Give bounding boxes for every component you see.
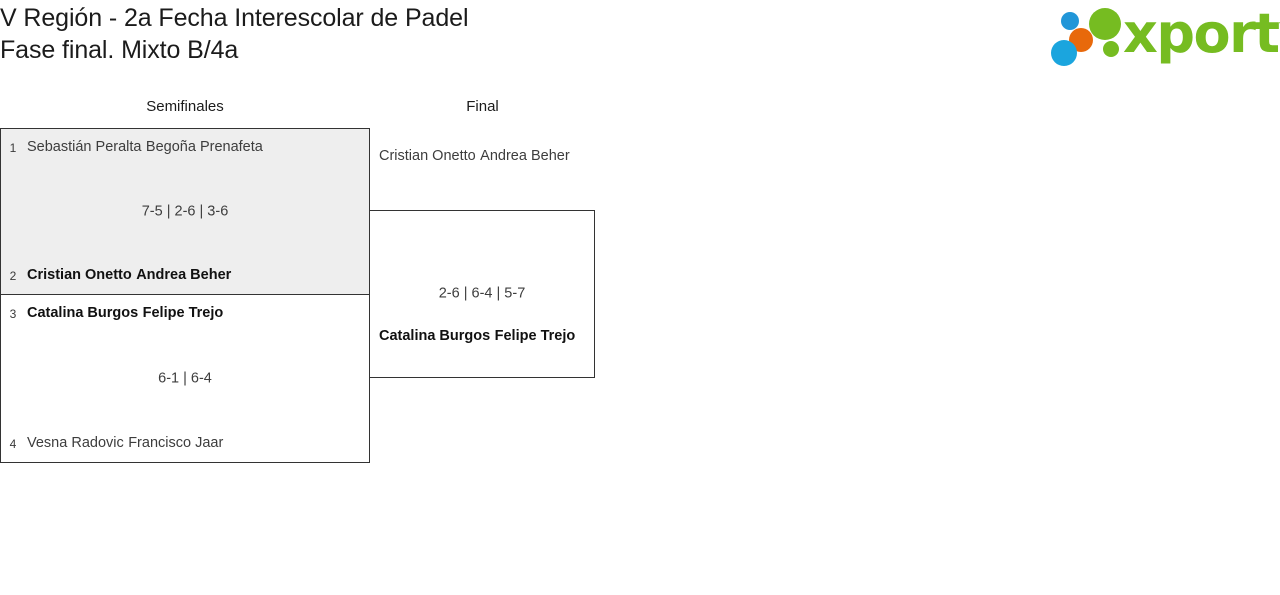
match-semifinal-2-score: 6-1 | 6-4: [1, 369, 369, 388]
seed-number: 1: [1, 141, 25, 155]
player-name: Cristian Onetto: [27, 267, 132, 283]
team-players: Vesna Radovic Francisco Jaar: [25, 434, 369, 453]
player-name: Sebastián Peralta: [27, 139, 141, 155]
match-semifinal-2-team-top[interactable]: 3 Catalina Burgos Felipe Trejo: [1, 304, 369, 323]
seed-number: 3: [1, 307, 25, 321]
player-name: Andrea Beher: [480, 148, 569, 164]
match-final-team-top[interactable]: Cristian Onetto Andrea Beher: [370, 147, 594, 166]
match-semifinal-1-score: 7-5 | 2-6 | 3-6: [1, 202, 369, 221]
seed-number: 2: [1, 269, 25, 283]
seed-number: 4: [1, 437, 25, 451]
match-final-score: 2-6 | 6-4 | 5-7: [370, 285, 594, 304]
match-semifinal-2[interactable]: 3 Catalina Burgos Felipe Trejo 6-1 | 6-4…: [0, 294, 370, 463]
player-name: Catalina Burgos: [379, 328, 490, 344]
tournament-bracket: 1 Sebastián Peralta Begoña Prenafeta 7-5…: [0, 0, 1280, 595]
player-name: Felipe Trejo: [143, 305, 224, 321]
player-name: Andrea Beher: [136, 267, 231, 283]
match-semifinal-1-team-bottom[interactable]: 2 Cristian Onetto Andrea Beher: [1, 266, 369, 285]
player-name: Francisco Jaar: [128, 435, 223, 451]
match-final-team-bottom[interactable]: Catalina Burgos Felipe Trejo: [370, 327, 594, 346]
match-semifinal-1[interactable]: 1 Sebastián Peralta Begoña Prenafeta 7-5…: [0, 128, 370, 295]
team-players: Catalina Burgos Felipe Trejo: [25, 304, 369, 323]
team-players: Catalina Burgos Felipe Trejo: [370, 327, 594, 346]
match-semifinal-2-team-bottom[interactable]: 4 Vesna Radovic Francisco Jaar: [1, 434, 369, 453]
team-players: Cristian Onetto Andrea Beher: [25, 266, 369, 285]
player-name: Catalina Burgos: [27, 305, 138, 321]
match-final[interactable]: Cristian Onetto Andrea Beher 2-6 | 6-4 |…: [369, 210, 595, 378]
player-name: Begoña Prenafeta: [146, 139, 263, 155]
player-name: Vesna Radovic: [27, 435, 124, 451]
player-name: Felipe Trejo: [495, 328, 576, 344]
team-players: Sebastián Peralta Begoña Prenafeta: [25, 138, 369, 157]
player-name: Cristian Onetto: [379, 148, 476, 164]
team-players: Cristian Onetto Andrea Beher: [370, 147, 594, 166]
match-semifinal-1-team-top[interactable]: 1 Sebastián Peralta Begoña Prenafeta: [1, 138, 369, 157]
